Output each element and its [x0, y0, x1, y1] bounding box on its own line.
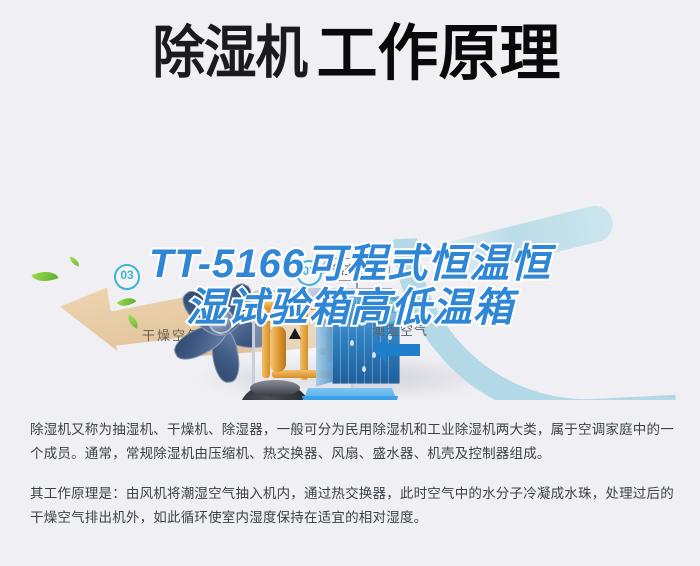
water-tank-icon [302, 396, 398, 400]
infographic-page: 除湿机工作原理 干燥空气 [0, 0, 700, 566]
page-title: 除湿机工作原理 [0, 22, 700, 84]
paragraph-1: 除湿机又称为抽湿机、干燥机、除湿器，一般可分为民用除湿机和工业除湿机两大类，属于… [30, 418, 674, 466]
receiver-canister-icon [270, 326, 286, 372]
copper-pipe-icon [262, 302, 270, 378]
humid-air-label: 潮湿空气 [372, 320, 428, 339]
leaf-icon [31, 266, 58, 287]
paragraph-2: 其工作原理是：由风机将潮湿空气抽入机内，通过热交换器，此时空气中的水分子冷凝成水… [30, 482, 674, 530]
title-part-2: 工作原理 [316, 22, 560, 84]
callout-pointer-line [356, 278, 358, 291]
dehumidifier-diagram: 干燥空气 [0, 112, 700, 400]
title-part-1: 除湿机 [153, 22, 308, 84]
intake-arrow-icon [386, 344, 420, 356]
flow-arrow-up-icon [289, 328, 301, 339]
badge-heat-exchanger: 02 [296, 260, 322, 286]
badge-dry-air: 03 [114, 264, 140, 290]
leaf-icon [68, 256, 81, 266]
compressor-ring-icon [250, 380, 300, 396]
body-copy: 除湿机又称为抽湿机、干燥机、除湿器，一般可分为民用除湿机和工业除湿机两大类，属于… [30, 418, 674, 546]
